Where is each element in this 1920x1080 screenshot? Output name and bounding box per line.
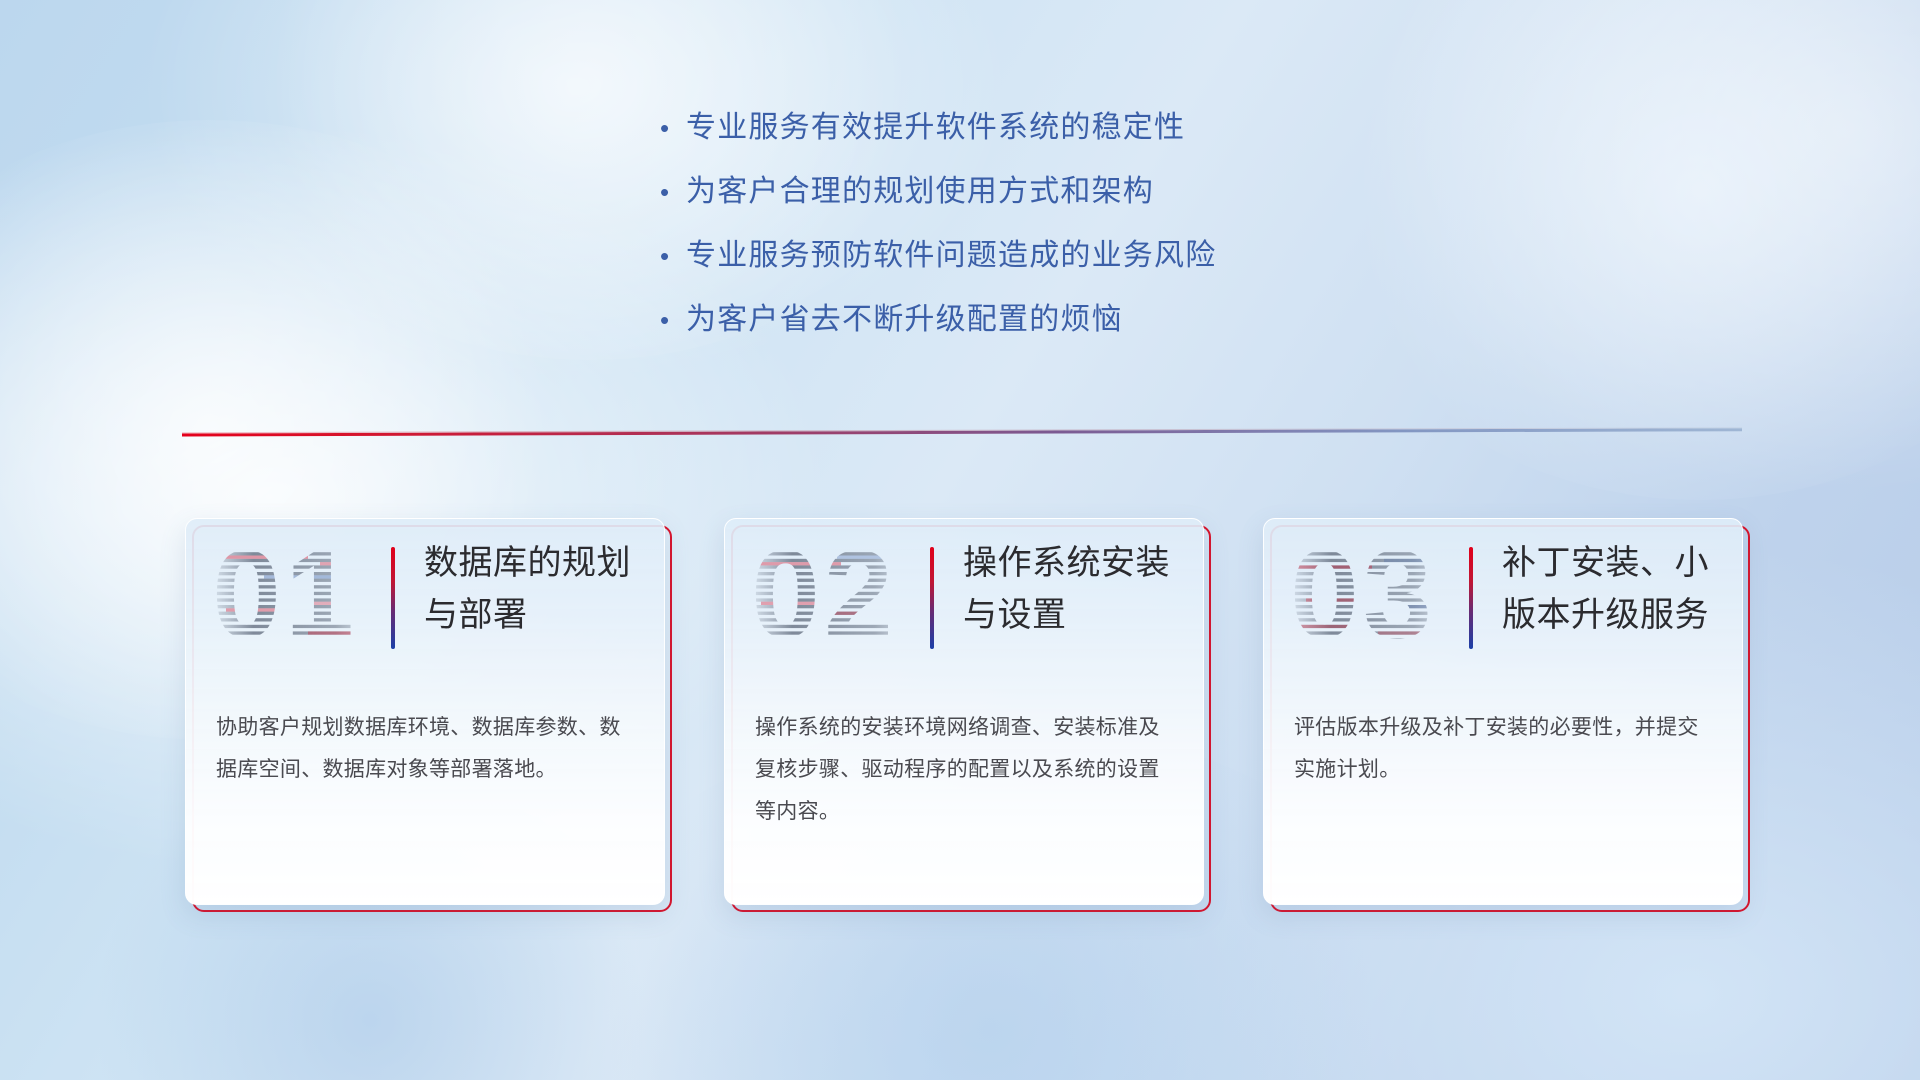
card-description: 协助客户规划数据库环境、数据库参数、数据库空间、数据库对象等部署落地。: [216, 707, 640, 791]
bullet-text: 为客户省去不断升级配置的烦恼: [686, 300, 1123, 340]
bullet-marker-icon: •: [660, 300, 686, 340]
card-header: 02: [725, 519, 1203, 674]
divider-tapered-line-icon: [182, 424, 1742, 438]
card-description: 操作系统的安装环境网络调查、安装标准及复核步骤、驱动程序的配置以及系统的设置等内…: [755, 707, 1179, 833]
bullet-text: 为客户合理的规划使用方式和架构: [686, 172, 1154, 212]
list-item: • 为客户省去不断升级配置的烦恼: [660, 300, 1580, 364]
service-card-row: 01: [185, 518, 1745, 905]
card-header: 01: [186, 519, 664, 674]
bullet-marker-icon: •: [660, 236, 686, 276]
benefits-bullet-list: • 专业服务有效提升软件系统的稳定性 • 为客户合理的规划使用方式和架构 • 专…: [660, 108, 1580, 364]
service-card[interactable]: 01: [185, 518, 665, 905]
bullet-marker-icon: •: [660, 108, 686, 148]
bullet-marker-icon: •: [660, 172, 686, 212]
card-description: 评估版本升级及补丁安装的必要性，并提交实施计划。: [1294, 707, 1718, 791]
card-panel: 03: [1263, 518, 1743, 905]
section-divider: [182, 424, 1742, 438]
card-number-02: 02: [751, 539, 916, 657]
slide-canvas: • 专业服务有效提升软件系统的稳定性 • 为客户合理的规划使用方式和架构 • 专…: [0, 0, 1920, 1080]
bullet-text: 专业服务预防软件问题造成的业务风险: [686, 236, 1216, 276]
list-item: • 专业服务有效提升软件系统的稳定性: [660, 108, 1580, 172]
service-card[interactable]: 02: [724, 518, 1204, 905]
card-panel: 01: [185, 518, 665, 905]
card-accent-bar: [930, 547, 934, 649]
bullet-text: 专业服务有效提升软件系统的稳定性: [686, 108, 1185, 148]
card-title: 数据库的规划与部署: [424, 537, 650, 641]
striped-numeral-icon: 01: [212, 539, 377, 657]
card-panel: 02: [724, 518, 1204, 905]
striped-numeral-icon: 02: [751, 539, 916, 657]
card-number-01: 01: [212, 539, 377, 657]
striped-numeral-icon: 03: [1290, 539, 1455, 657]
service-card[interactable]: 03: [1263, 518, 1743, 905]
card-header: 03: [1264, 519, 1742, 674]
list-item: • 专业服务预防软件问题造成的业务风险: [660, 236, 1580, 300]
list-item: • 为客户合理的规划使用方式和架构: [660, 172, 1580, 236]
card-accent-bar: [1469, 547, 1473, 649]
card-accent-bar: [391, 547, 395, 649]
card-title: 操作系统安装与设置: [963, 537, 1189, 641]
card-title: 补丁安装、小版本升级服务: [1502, 537, 1728, 641]
card-number-03: 03: [1290, 539, 1455, 657]
